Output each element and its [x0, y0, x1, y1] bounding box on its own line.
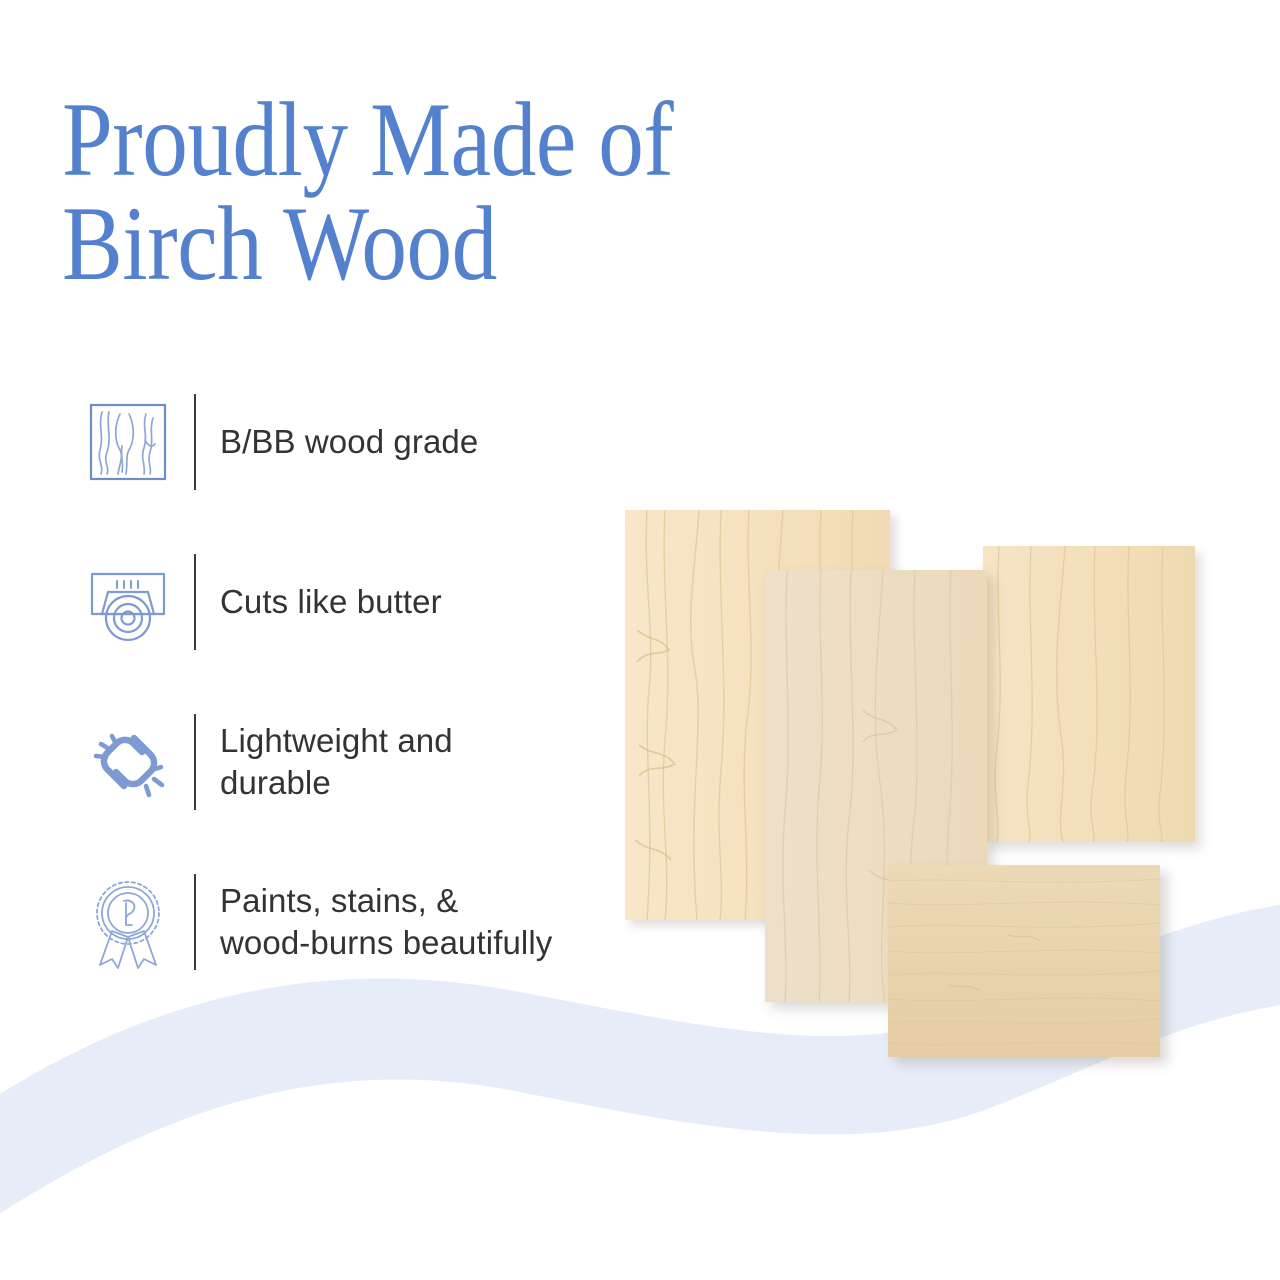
feature-divider [194, 874, 196, 970]
feature-label: Lightweight and durable [220, 720, 453, 804]
feature-item-lightweight: Lightweight and durable [76, 708, 676, 816]
feature-label: Cuts like butter [220, 581, 442, 623]
feature-item-wood-grade: B/BB wood grade [76, 388, 676, 496]
laser-cutter-icon [76, 550, 180, 654]
feature-item-cuts: Cuts like butter [76, 548, 676, 656]
feature-label: B/BB wood grade [220, 421, 478, 463]
poster-canvas: Proudly Made of Birch Wood [0, 0, 1280, 1280]
feature-label: Paints, stains, & wood-burns beautifully [220, 880, 552, 964]
wood-grain-icon [76, 390, 180, 494]
chain-link-sparkle-icon [76, 710, 180, 814]
feature-item-finishes: Paints, stains, & wood-burns beautifully [76, 868, 676, 976]
feature-divider [194, 394, 196, 490]
panel-back-right [983, 546, 1195, 842]
panel-front-small [888, 865, 1160, 1057]
feature-divider [194, 714, 196, 810]
feature-divider [194, 554, 196, 650]
feature-list: B/BB wood grade [76, 388, 676, 976]
award-ribbon-icon [76, 870, 180, 974]
